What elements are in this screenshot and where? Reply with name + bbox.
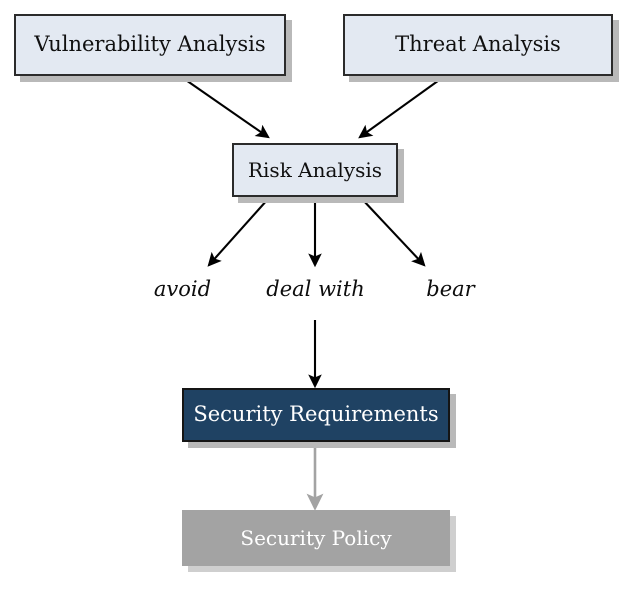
node-threat-analysis-label: Threat Analysis xyxy=(395,33,561,56)
edge-vulnerability-to-risk xyxy=(183,78,268,137)
edge-threat-to-risk xyxy=(360,78,442,137)
edge-risk-to-avoid xyxy=(209,199,268,265)
node-risk-analysis[interactable]: Risk Analysis xyxy=(232,143,398,197)
node-vulnerability-analysis[interactable]: Vulnerability Analysis xyxy=(14,14,286,76)
node-threat-analysis[interactable]: Threat Analysis xyxy=(343,14,613,76)
edge-risk-to-bear xyxy=(362,199,424,265)
node-security-requirements-label: Security Requirements xyxy=(193,403,438,426)
edge-label-avoid: avoid xyxy=(130,277,235,301)
edge-label-bear: bear xyxy=(398,277,503,301)
node-security-policy[interactable]: Security Policy xyxy=(182,510,450,566)
edge-label-deal-with: deal with xyxy=(258,277,373,301)
node-vulnerability-analysis-label: Vulnerability Analysis xyxy=(34,33,265,56)
node-security-requirements[interactable]: Security Requirements xyxy=(182,388,450,442)
node-risk-analysis-label: Risk Analysis xyxy=(248,159,382,181)
node-security-policy-label: Security Policy xyxy=(240,527,391,549)
